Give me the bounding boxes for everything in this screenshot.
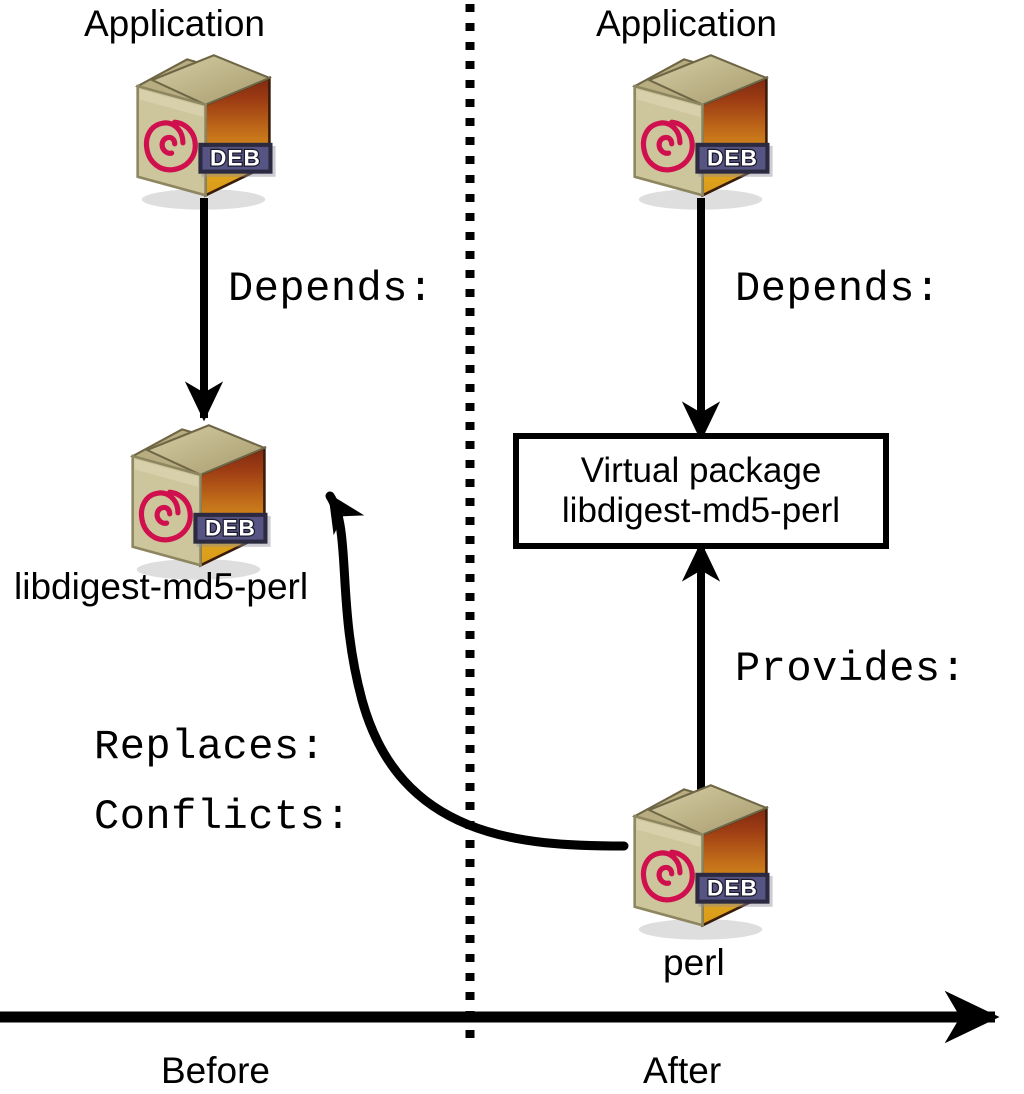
before-package-name-label: libdigest-md5-perl <box>14 568 308 605</box>
before-phase-label: Before <box>161 1052 270 1089</box>
conflicts-label: Conflicts: <box>94 796 351 838</box>
replaces-label: Replaces: <box>94 726 325 768</box>
virtual-package-box: Virtual package libdigest-md5-perl <box>513 433 889 549</box>
virtual-package-line1: Virtual package <box>581 451 822 491</box>
before-application-label: Application <box>84 5 265 42</box>
after-package-name-label: perl <box>663 944 725 981</box>
virtual-package-line2: libdigest-md5-perl <box>562 491 840 531</box>
provides-label: Provides: <box>735 648 966 690</box>
after-depends-label: Depends: <box>735 268 941 310</box>
debian-package-icon <box>635 785 773 939</box>
debian-package-icon <box>133 425 271 579</box>
before-depends-label: Depends: <box>228 268 434 310</box>
after-phase-label: After <box>643 1052 721 1089</box>
after-application-label: Application <box>596 5 777 42</box>
diagram-canvas: DEB <box>0 0 1024 1094</box>
debian-package-icon <box>635 55 773 209</box>
debian-package-icon <box>138 55 276 209</box>
